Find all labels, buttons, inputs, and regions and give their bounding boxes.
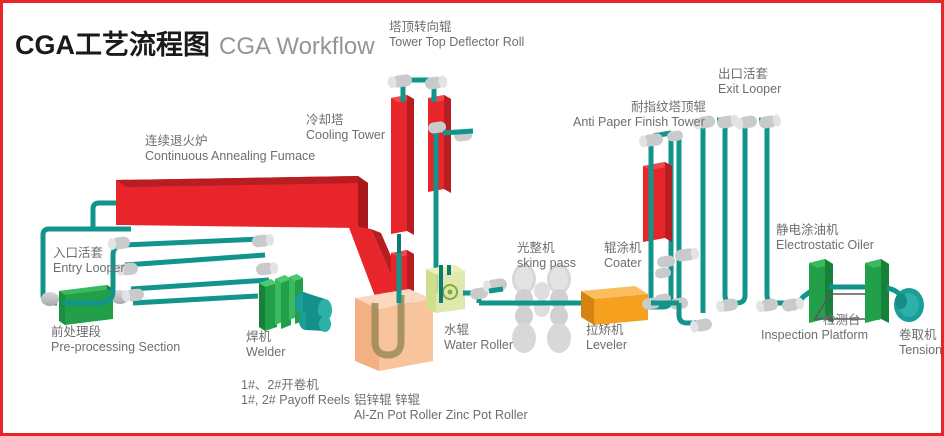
label-al-zn-pot-roller: 铝锌辊 锌辊 Al-Zn Pot Roller Zinc Pot Roller <box>354 393 528 423</box>
label-exit-looper: 出口活套 Exit Looper <box>718 67 781 97</box>
cga-workflow-diagram: CGA工艺流程图CGA Workflow <box>0 0 944 436</box>
exit-looper-strips <box>679 114 789 333</box>
label-inspection-platform: 检测台 Inspection Platform <box>819 313 868 343</box>
skin-pass-rollers <box>512 264 571 353</box>
label-leveler: 拉矫机 Leveler <box>586 323 627 353</box>
label-cooling-tower: 冷却塔 Cooling Tower <box>306 113 385 143</box>
label-water-roller: 水辊 Water Roller <box>444 323 513 353</box>
label-skin-pass: 光整机 sking pass <box>517 241 576 271</box>
label-anti-paper-finish-tower: 耐指纹塔顶辊 Anti Paper Finish Tower <box>573 100 706 130</box>
payoff-reel-cones <box>295 292 332 332</box>
tension-reel-drum <box>887 288 924 322</box>
label-electrostatic-oiler: 静电涂油机 Electrostatic Oiler <box>776 223 874 253</box>
label-tension-reel: 卷取机 Tension Reel <box>899 328 944 358</box>
label-entry-looper: 入口活套 Entry Looper <box>53 246 125 276</box>
mid-strip-path <box>463 278 513 303</box>
label-pre-processing-section: 前处理段 Pre-processing Section <box>51 325 180 355</box>
diagram-canvas <box>3 3 944 436</box>
label-payoff-reels: 1#、2#开卷机 1#, 2# Payoff Reels <box>241 378 350 408</box>
label-tower-top-deflector-roll: 塔顶转向辊 Tower Top Deflector Roll <box>389 20 524 50</box>
label-welder: 焊机 Welder <box>246 330 285 360</box>
water-roller-box <box>426 265 465 313</box>
label-annealing-furnace: 连续退火炉 Continuous Annealing Fumace <box>145 134 315 164</box>
label-coater: 辊涂机 Coater <box>604 241 642 271</box>
